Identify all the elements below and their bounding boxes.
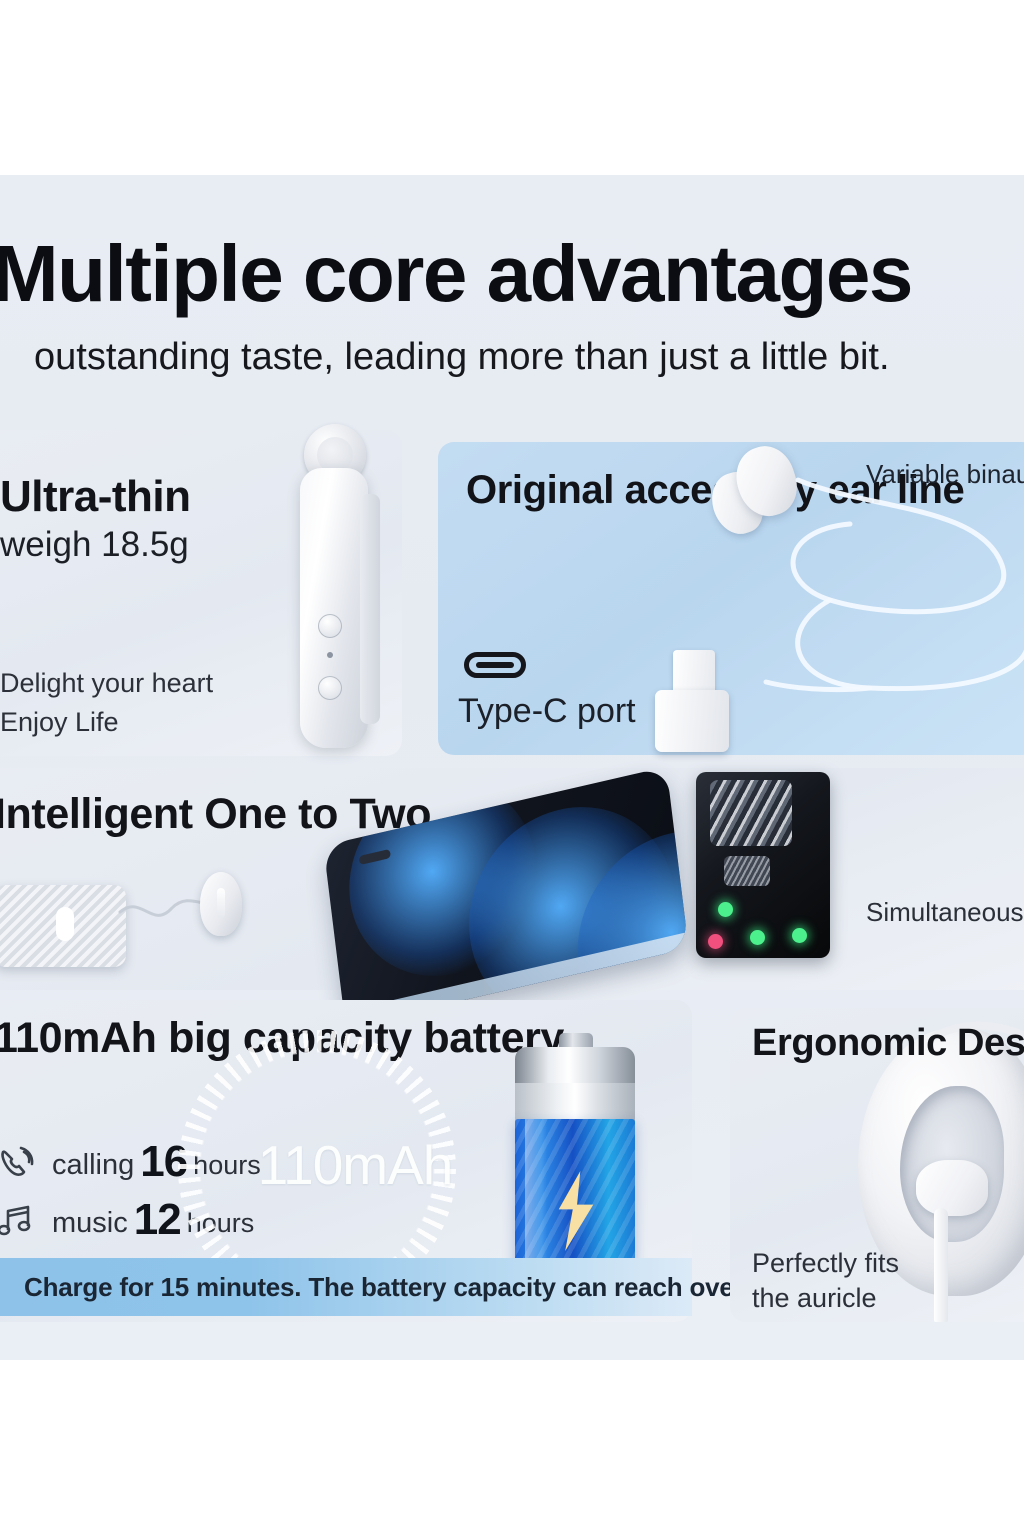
fast-charge-banner: Charge for 15 minutes. The battery capac… <box>0 1258 692 1316</box>
device-indicator-light <box>718 902 733 917</box>
music-hours-value: 12 <box>134 1198 181 1242</box>
type-c-port-label: Type-C port <box>458 692 636 731</box>
second-device-image <box>696 772 830 958</box>
ergonomic-footer-line1: Perfectly fits <box>752 1248 899 1278</box>
device-screen-artwork <box>710 780 792 846</box>
headset-power-button <box>318 676 342 700</box>
infographic-page: Multiple core advantages outstanding tas… <box>0 0 1024 1536</box>
two-devices-note: Simultaneously supporting 2 devices <box>866 896 1024 930</box>
plug-housing <box>655 690 729 752</box>
bluetooth-headset-image <box>290 424 386 754</box>
page-subtitle: outstanding taste, leading more than jus… <box>34 338 1024 376</box>
earbud-small-image <box>200 872 242 936</box>
calling-icon <box>0 1140 38 1184</box>
headset-body <box>300 468 368 748</box>
type-c-plug-image <box>655 650 729 752</box>
one-to-two-heading: Intelligent One to Two <box>0 790 431 839</box>
ergonomic-heading: Ergonomic Design <box>752 1022 1024 1065</box>
device-screen-artwork-secondary <box>724 856 770 886</box>
lightning-bolt-icon <box>549 1171 603 1251</box>
headset-led-indicator <box>327 652 333 658</box>
usb-type-c-icon <box>464 652 526 678</box>
earbud-stem <box>934 1208 948 1322</box>
music-label: music <box>52 1209 128 1242</box>
ultra-thin-heading: Ultra-thin <box>0 472 191 522</box>
charging-case-image <box>0 885 126 967</box>
headset-clip <box>360 494 380 724</box>
headset-volume-button <box>318 614 342 638</box>
charging-case-indicator <box>56 907 74 941</box>
ultra-thin-weight: weigh 18.5g <box>0 525 189 565</box>
music-note-icon <box>0 1198 38 1242</box>
ultra-thin-footer-line2: Enjoy Life <box>0 707 119 738</box>
device-indicator-light <box>792 928 807 943</box>
earbud-in-ear <box>916 1160 988 1216</box>
fast-charge-banner-text: Charge for 15 minutes. The battery capac… <box>0 1272 802 1303</box>
device-indicator-light-red <box>708 934 723 949</box>
capacity-watermark-text: 110mAh <box>210 1133 500 1197</box>
device-indicator-light <box>750 930 765 945</box>
ultra-thin-footer-line1: Delight your heart <box>0 668 213 699</box>
battery-illustration <box>515 1033 635 1295</box>
calling-label: calling <box>52 1151 134 1184</box>
ear-line-cable-illustration <box>680 470 1024 760</box>
ergonomic-footer-line2: the auricle <box>752 1283 877 1313</box>
ergonomic-footer: Perfectly fits the auricle <box>752 1246 899 1316</box>
case-to-earbud-wire <box>118 890 210 934</box>
card-ergonomic-design: Ergonomic Design Perfectly fits the auri… <box>730 1008 1024 1322</box>
page-title: Multiple core advantages <box>0 234 1024 314</box>
